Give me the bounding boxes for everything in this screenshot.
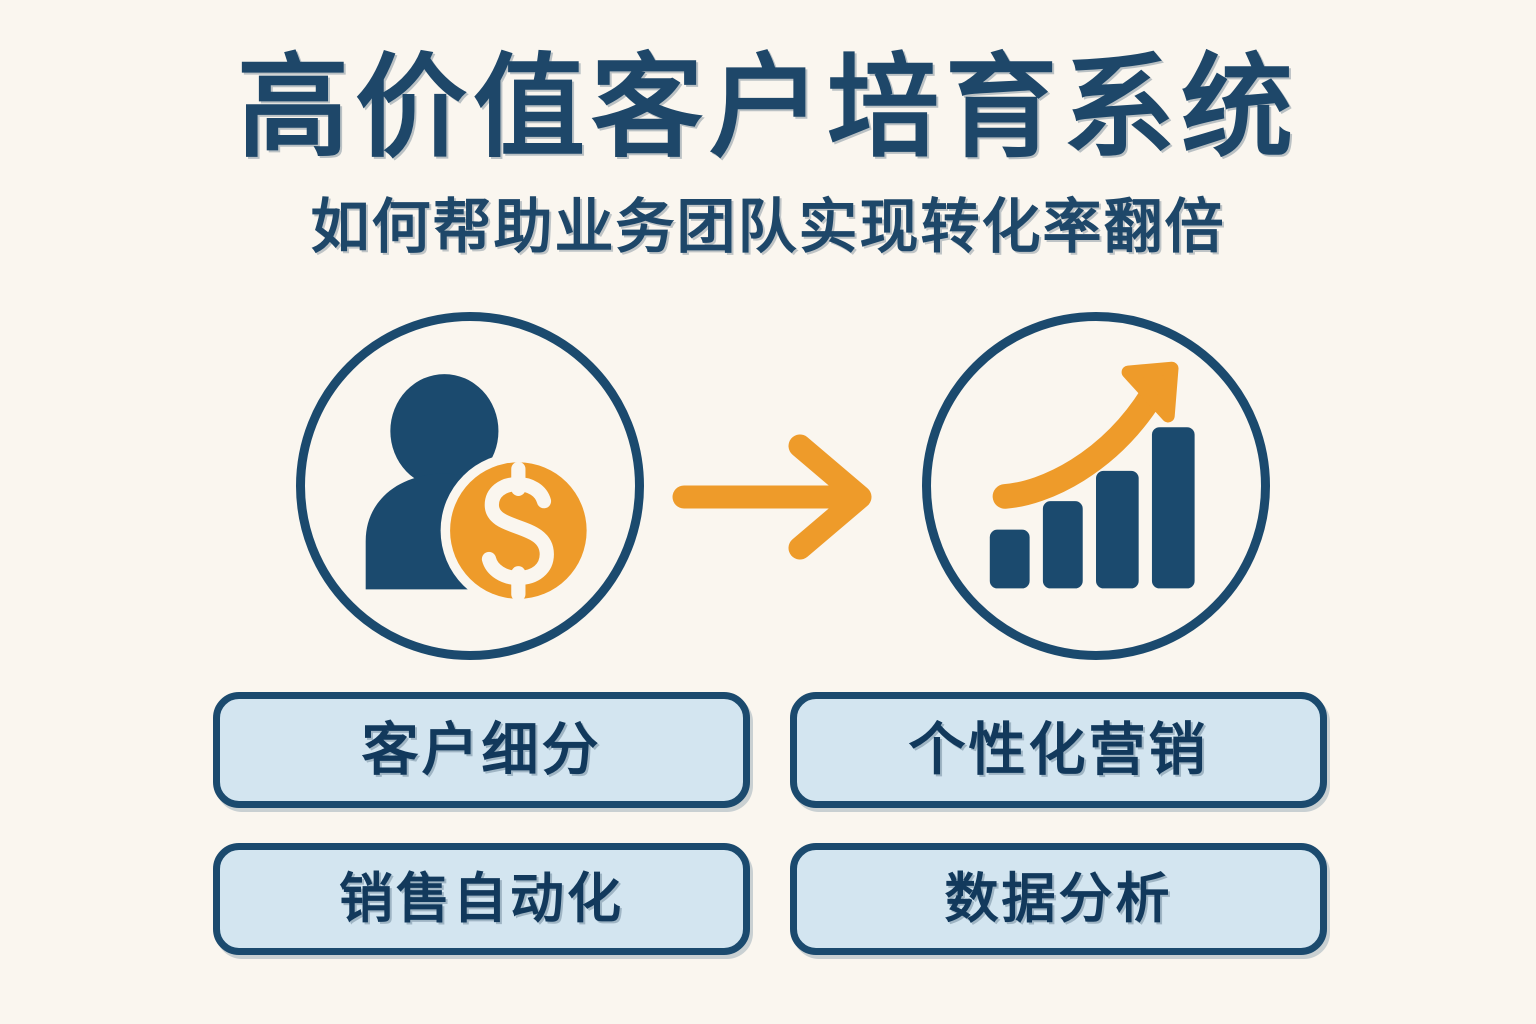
high-value-customer-badge: [296, 312, 644, 660]
pillar-grid: 客户细分 个性化营销 销售自动化 数据分析: [213, 692, 1325, 956]
pillar-box-personalized-marketing[interactable]: 个性化营销: [790, 692, 1327, 808]
pillar-box-data-analysis[interactable]: 数据分析: [790, 843, 1327, 955]
pillar-label: 销售自动化: [339, 869, 624, 929]
high-value-customer-icon: [305, 321, 635, 651]
bar-2: [1043, 501, 1083, 588]
bar-1: [990, 530, 1030, 589]
transformation-flow: [0, 312, 1536, 660]
pillar-box-sales-automation[interactable]: 销售自动化: [213, 843, 750, 955]
pillar-label: 个性化营销: [909, 720, 1209, 780]
flow-arrow: [670, 432, 890, 562]
pillar-box-customer-segmentation[interactable]: 客户细分: [213, 692, 750, 808]
right-arrow-icon: [670, 432, 890, 562]
pillar-label: 数据分析: [945, 869, 1173, 929]
pillar-label: 客户细分: [362, 720, 602, 780]
infographic-poster: 高价值客户培育系统 如何帮助业务团队实现转化率翻倍: [0, 0, 1536, 1024]
growth-bar-chart-icon: [931, 321, 1261, 651]
growth-chart-badge: [922, 312, 1270, 660]
bar-3: [1096, 471, 1139, 589]
page-subtitle: 如何帮助业务团队实现转化率翻倍: [0, 192, 1536, 262]
bar-4: [1152, 427, 1195, 588]
page-title: 高价值客户培育系统: [0, 48, 1536, 168]
upward-trend-arrow-icon: [1005, 368, 1172, 496]
